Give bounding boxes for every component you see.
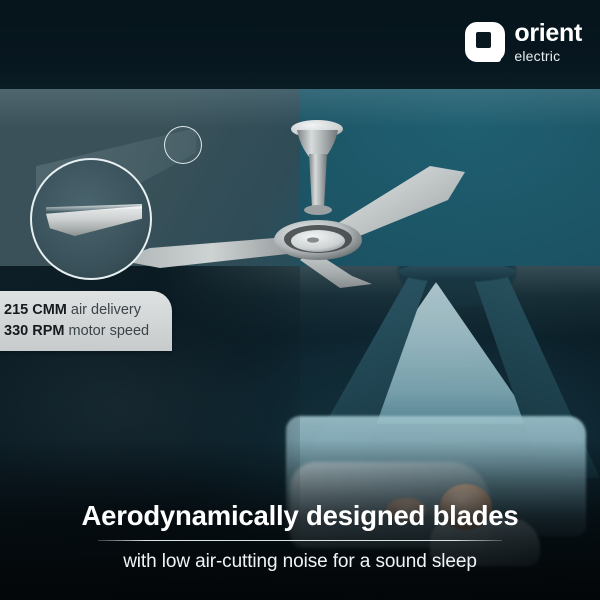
spec-row-motor-speed: 330 RPM motor speed (4, 321, 172, 342)
orient-o-squircle-icon (465, 22, 505, 62)
fan-down-rod (309, 154, 327, 208)
brand-logo: orient electric (465, 18, 582, 66)
bottom-copy-block: Aerodynamically designed blades with low… (0, 499, 600, 575)
blade-edge-highlight-circle-icon (164, 126, 202, 164)
brand-name-secondary: electric (514, 49, 582, 63)
subheadline: with low air-cutting noise for a sound s… (0, 550, 600, 574)
spec-row-air-delivery: 215 CMM air delivery (4, 300, 172, 321)
fan-hub-badge (307, 237, 319, 242)
headline: Aerodynamically designed blades (0, 499, 600, 533)
spec-value-air-delivery: 215 CMM (4, 302, 67, 318)
spec-unit-motor-speed: motor speed (68, 323, 149, 339)
product-ad-banner: orient electric 215 CMM air delivery 330… (0, 0, 600, 600)
spec-unit-air-delivery: air delivery (71, 302, 141, 318)
brand-wordmark: orient electric (514, 21, 582, 63)
brand-name-primary: orient (514, 21, 582, 46)
headline-divider (98, 540, 502, 542)
specs-chip: 215 CMM air delivery 330 RPM motor speed (0, 291, 172, 351)
blade-cross-section-magnifier (30, 158, 152, 280)
fan-canopy-taper (297, 130, 338, 158)
fan-rod-collar (304, 205, 332, 215)
spec-value-motor-speed: 330 RPM (4, 323, 64, 339)
